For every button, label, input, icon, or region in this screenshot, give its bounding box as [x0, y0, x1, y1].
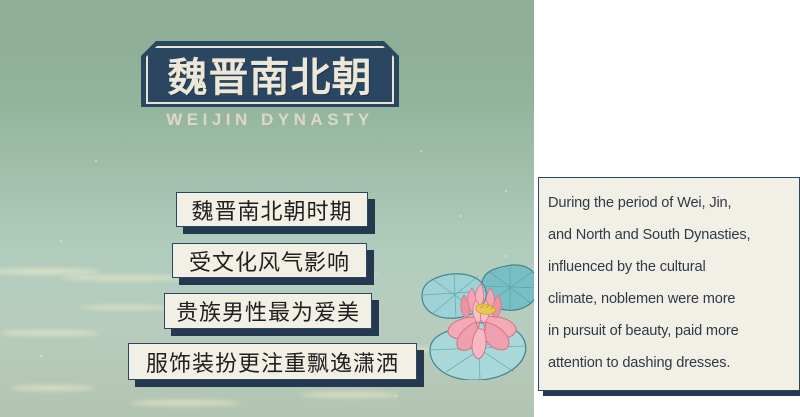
water-streak — [0, 268, 100, 275]
sparkle-speck — [505, 190, 507, 192]
artwork-background: 魏晋南北朝 WEIJIN DYNASTY 魏晋南北朝时期 受文化风气影响 贵族男… — [0, 0, 534, 417]
english-caption-text: During the period of Wei, Jin, and North… — [548, 187, 795, 379]
statement-box: 服饰装扮更注重飘逸潇洒 — [128, 343, 417, 380]
water-streak — [430, 300, 510, 305]
water-streak — [60, 275, 190, 281]
water-streak — [80, 305, 170, 310]
statement-box: 魏晋南北朝时期 — [176, 192, 368, 227]
english-caption-panel: During the period of Wei, Jin, and North… — [538, 177, 800, 391]
water-streak — [130, 400, 240, 406]
water-streak — [410, 346, 505, 352]
page-title: 魏晋南北朝 — [141, 41, 399, 107]
sparkle-speck — [60, 240, 62, 242]
statement-box: 受文化风气影响 — [172, 243, 367, 278]
sparkle-speck — [420, 150, 422, 152]
lotus-flower-icon — [418, 262, 534, 380]
water-streak — [10, 385, 95, 391]
sparkle-speck — [505, 255, 507, 257]
poster-canvas: 魏晋南北朝 WEIJIN DYNASTY 魏晋南北朝时期 受文化风气影响 贵族男… — [0, 0, 800, 417]
sparkle-speck — [40, 355, 42, 357]
sparkle-speck — [460, 215, 462, 217]
sparkle-speck — [395, 395, 397, 397]
water-streak — [0, 330, 100, 336]
water-streak — [300, 392, 400, 398]
statement-box: 贵族男性最为爱美 — [164, 293, 372, 329]
page-subtitle: WEIJIN DYNASTY — [141, 110, 399, 130]
sparkle-speck — [95, 160, 97, 162]
